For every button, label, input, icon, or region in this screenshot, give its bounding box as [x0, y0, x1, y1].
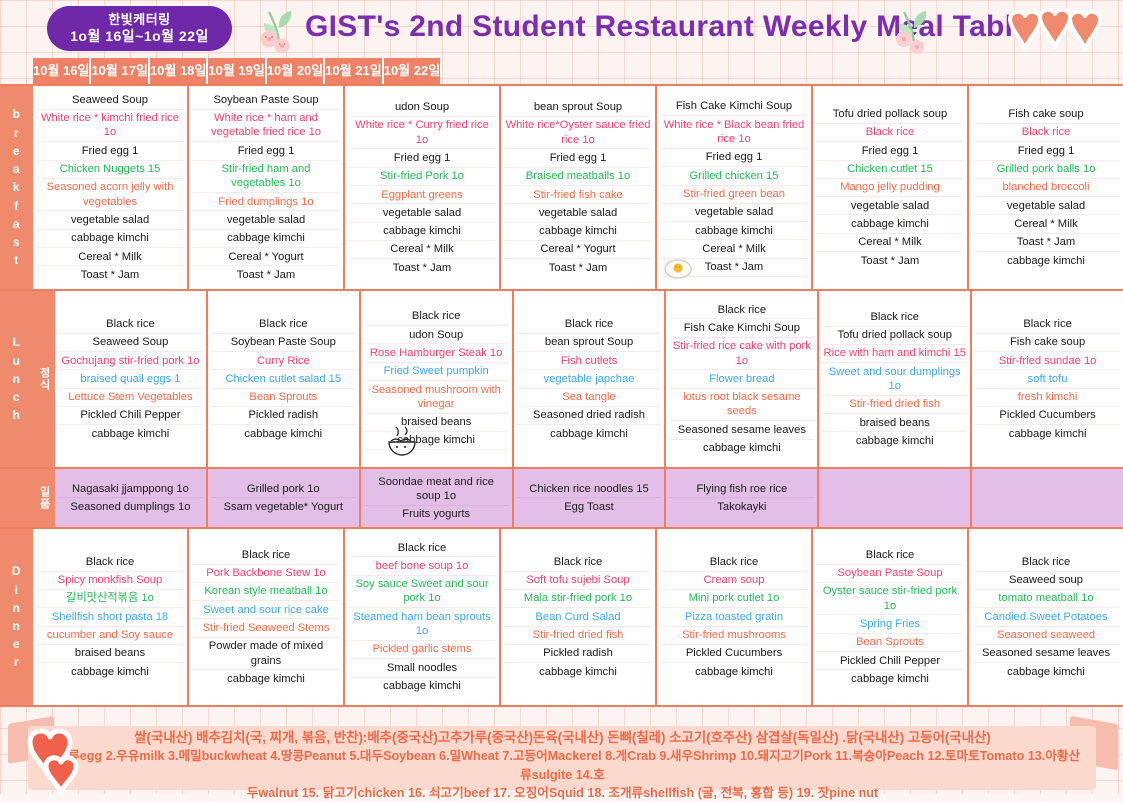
menu-item: Small noodles	[348, 659, 496, 677]
menu-item: cabbage kimchi	[36, 663, 184, 680]
date-header-4: 10월 20일	[267, 58, 325, 84]
allergen-line-1: 계란류egg 2.우유milk 3.메밀buckwheat 4.땅콩Peanut…	[40, 747, 1085, 784]
menu-item: Grilled pork 1o	[211, 480, 356, 498]
menu-item: Pickled Chili Pepper	[58, 407, 203, 425]
menu-item: Chicken cutlet salad 15	[211, 370, 356, 388]
menu-item: Mini pork cutlet 1o	[660, 590, 808, 608]
menu-item: Toast * Jam	[816, 252, 964, 269]
menu-item: Chicken Nuggets 15	[36, 161, 184, 179]
menu-item: White rice * ham and vegetable fried ric…	[192, 110, 340, 143]
menu-item: vegetable salad	[816, 197, 964, 215]
date-header-2: 10월 18일	[150, 58, 208, 84]
menu-item: tomato meatball 1o	[972, 590, 1120, 608]
lunch-cell-2[interactable]: Black riceudon SoupRose Hamburger Steak …	[361, 291, 514, 467]
label-letter: r	[14, 653, 19, 671]
dinner-cell-5[interactable]: Black riceSoybean Paste SoupOyster sauce…	[813, 529, 969, 705]
menu-item: Black rice	[517, 315, 662, 333]
menu-item: Black rice	[36, 553, 184, 571]
row-label-ilpum-korean: 일품	[33, 469, 55, 527]
menu-item: Stir-fried ham and vegetables 1o	[192, 161, 340, 194]
menu-item: Ssam vegetable* Yogurt	[211, 498, 356, 515]
breakfast-cell-1[interactable]: Soybean Paste SoupWhite rice * ham and v…	[189, 86, 345, 289]
menu-item: udon Soup	[348, 98, 496, 116]
menu-item: Fried egg 1	[348, 149, 496, 167]
menu-item: White rice * Black bean fried rice 1o	[660, 116, 808, 149]
menu-item: Black rice	[669, 301, 814, 319]
menu-item: Korean style meatball 1o	[192, 583, 340, 601]
menu-item: cabbage kimchi	[58, 425, 203, 442]
menu-item: Fish cake soup	[972, 106, 1120, 124]
menu-item: Fish Cake Kimchi Soup	[660, 98, 808, 116]
menu-item: Fish cutlets	[517, 352, 662, 370]
label-letter: t	[14, 251, 19, 269]
menu-item: Fish cake soup	[975, 334, 1120, 352]
page-header: 한빛케터링 1o월 16일~1o월 22일	[0, 0, 1123, 58]
menu-item: Nagasaki jjamppong 1o	[58, 480, 203, 498]
breakfast-cell-5[interactable]: Tofu dried pollack soupBlack riceFried e…	[813, 86, 969, 289]
menu-item: Sea tangle	[517, 389, 662, 407]
menu-item: Stir-fried Seaweed Stems	[192, 619, 340, 637]
label-letter: e	[13, 635, 20, 653]
date-header-6: 10월 22일	[384, 58, 440, 84]
menu-item: Cereal * Yogurt	[504, 241, 652, 259]
menu-item: Pickled Chili Pepper	[816, 652, 964, 670]
menu-item: Black rice	[660, 553, 808, 571]
ilpum-cell-1[interactable]: Grilled pork 1oSsam vegetable* Yogurt	[208, 469, 361, 527]
menu-item: Spicy monkfish Soup	[36, 572, 184, 590]
menu-item: Rice with ham and kimchi 15	[822, 345, 967, 363]
menu-item: cabbage kimchi	[36, 230, 184, 248]
catering-name: 한빛케터링	[108, 13, 170, 28]
menu-item: Pickled garlic stems	[348, 641, 496, 659]
menu-item: Seasoned acorn jelly with vegetables	[36, 179, 184, 212]
menu-item: cabbage kimchi	[211, 425, 356, 442]
menu-item: bean sprout Soup	[517, 334, 662, 352]
menu-item: Toast * Jam	[972, 234, 1120, 252]
breakfast-cell-4[interactable]: Fish Cake Kimchi SoupWhite rice * Black …	[657, 86, 813, 289]
menu-item: Toast * Jam	[348, 259, 496, 276]
menu-item: Lettuce Stem Vegetables	[58, 389, 203, 407]
menu-item: Chicken rice noodles 15	[517, 480, 662, 498]
menu-item: Toast * Jam	[36, 266, 184, 283]
menu-item: Cereal * Milk	[660, 240, 808, 258]
dinner-cell-6[interactable]: Black riceSeaweed souptomato meatball 1o…	[969, 529, 1123, 705]
label-letter: c	[13, 388, 20, 406]
menu-item: Fried egg 1	[660, 149, 808, 167]
menu-item: Soy sauce Sweet and sour pork 1o	[348, 576, 496, 609]
menu-item: Seaweed Soup	[36, 91, 184, 109]
menu-item: Flower bread	[669, 370, 814, 388]
label-letter: e	[13, 142, 20, 160]
menu-item: Grilled pork balls 1o	[972, 161, 1120, 179]
menu-item: Tofu dried pollack soup	[816, 106, 964, 124]
menu-item: fresh kimchi	[975, 389, 1120, 407]
menu-item: Black rice	[211, 315, 356, 333]
row-label-breakfast: breakfast	[0, 86, 33, 289]
dinner-row: Dinner Black riceSpicy monkfish Soup갈비맛산…	[0, 529, 1123, 707]
menu-item: Black rice	[975, 315, 1120, 333]
menu-item: Seasoned dumplings 1o	[58, 498, 203, 515]
label-letter: k	[13, 178, 20, 196]
ilpum-cell-0[interactable]: Nagasaki jjamppong 1oSeasoned dumplings …	[55, 469, 208, 527]
lunch-label-letters: Lunch	[13, 333, 21, 424]
menu-item: cabbage kimchi	[348, 678, 496, 695]
cherry-blossom-icon-2	[890, 6, 934, 59]
ilpum-cell-5[interactable]	[819, 469, 972, 527]
menu-item: braised beans	[364, 414, 509, 432]
menu-item: udon Soup	[364, 326, 509, 344]
menu-item: cabbage kimchi	[822, 432, 967, 449]
label-letter: L	[13, 333, 21, 351]
lunch-cell-5[interactable]: Black riceTofu dried pollack soupRice wi…	[819, 291, 972, 467]
menu-item: Soybean Paste Soup	[211, 334, 356, 352]
heart-w-logo-icon	[1000, 7, 1112, 60]
row-label-ilpum-spacer	[0, 469, 33, 527]
menu-item: cabbage kimchi	[660, 222, 808, 240]
menu-item: Seasoned dried radish	[517, 407, 662, 425]
row-label-lunch-korean: 정식	[33, 291, 55, 467]
lunch-cell-0[interactable]: Black riceSeaweed SoupGochujang stir-fri…	[55, 291, 208, 467]
menu-item: Stir-fried mushrooms	[660, 627, 808, 645]
footer-text-block: 쌀(국내산) 배추김치(국, 찌개, 볶음, 반찬):배추(중국산)고추가루(중…	[40, 728, 1085, 802]
menu-item: Black rice	[364, 308, 509, 326]
menu-item: vegetable salad	[972, 197, 1120, 215]
menu-item: lotus root black sesame seeds	[669, 389, 814, 422]
menu-item: Toast * Jam	[192, 266, 340, 283]
menu-item: Bean Curd Salad	[504, 608, 652, 626]
menu-item: Stir-fried rice cake with pork 1o	[669, 338, 814, 371]
lunch-cell-3[interactable]: Black ricebean sprout SoupFish cutletsve…	[514, 291, 667, 467]
menu-item: Fried egg 1	[816, 142, 964, 160]
label-letter: n	[13, 617, 21, 635]
breakfast-label-letters: breakfast	[13, 105, 21, 269]
breakfast-cell-6[interactable]: Fish cake soupBlack riceFried egg 1Grill…	[969, 86, 1123, 289]
menu-item: Soft tofu sujebi Soup	[504, 572, 652, 590]
menu-item: Soybean Paste Soup	[192, 91, 340, 109]
menu-item: Stir-fried dried fish	[822, 396, 967, 414]
menu-item: cabbage kimchi	[504, 663, 652, 680]
label-letter: h	[13, 406, 21, 424]
menu-item: Steamed ham bean sprouts 1o	[348, 608, 496, 641]
menu-item: Sweet and sour rice cake	[192, 601, 340, 619]
menu-item: Bean Sprouts	[816, 634, 964, 652]
menu-item: White rice * Curry fried rice 1o	[348, 117, 496, 150]
menu-item: Fish Cake Kimchi Soup	[669, 319, 814, 337]
allergen-line-2: 두walnut 15. 닭고기chicken 16. 쇠고기beef 17. 오…	[40, 784, 1085, 802]
menu-item: Stir-fried sundae 1o	[975, 352, 1120, 370]
menu-item: cabbage kimchi	[192, 230, 340, 248]
label-letter: n	[13, 599, 21, 617]
label-letter: s	[13, 233, 20, 251]
menu-item: blanched broccoli	[972, 179, 1120, 197]
menu-item: Black rice	[972, 124, 1120, 142]
menu-item: Curry Rice	[211, 352, 356, 370]
breakfast-cell-0[interactable]: Seaweed SoupWhite rice * kimchi fried ri…	[33, 86, 189, 289]
dinner-cell-0[interactable]: Black riceSpicy monkfish Soup갈비맛산적볶음 1oS…	[33, 529, 189, 705]
menu-item: Black rice	[972, 553, 1120, 571]
cherry-blossom-icon	[255, 6, 299, 59]
menu-item: Rose Hamburger Steak 1o	[364, 344, 509, 362]
menu-item: Black rice	[58, 315, 203, 333]
menu-item: cabbage kimchi	[192, 670, 340, 687]
menu-item: Cereal * Milk	[972, 215, 1120, 233]
double-heart-icon	[18, 722, 92, 801]
label-letter: r	[14, 124, 19, 142]
label-letter: n	[13, 370, 21, 388]
menu-item: Braised meatballs 1o	[504, 168, 652, 186]
label-letter: u	[13, 352, 21, 370]
menu-item: vegetable salad	[504, 204, 652, 222]
menu-item: braised beans	[36, 645, 184, 663]
menu-item: Pickled Cucumbers	[660, 645, 808, 663]
menu-item: Toast * Jam	[504, 259, 652, 276]
label-letter: D	[12, 562, 21, 580]
menu-item: Black rice	[348, 539, 496, 557]
menu-item: Black rice	[816, 546, 964, 564]
menu-item: Sweet and sour dumplings 1o	[822, 363, 967, 396]
menu-item: Seasoned seaweed	[972, 627, 1120, 645]
menu-item: Chicken cutlet 15	[816, 161, 964, 179]
breakfast-row: breakfast Seaweed SoupWhite rice * kimch…	[0, 84, 1123, 291]
menu-item: cabbage kimchi	[972, 252, 1120, 269]
row-label-lunch: Lunch	[0, 291, 33, 467]
menu-item: cabbage kimchi	[816, 670, 964, 687]
menu-item: Stir-fried dried fish	[504, 627, 652, 645]
label-letter: b	[13, 105, 21, 123]
menu-item: Seasoned mushroom with vinegar	[364, 381, 509, 414]
menu-item: Stir-fried Pork 1o	[348, 168, 496, 186]
menu-item: Black rice	[504, 553, 652, 571]
menu-item: cabbage kimchi	[517, 425, 662, 442]
menu-item: Fried egg 1	[972, 142, 1120, 160]
menu-item: Soybean Paste Soup	[816, 565, 964, 583]
menu-item: Pizza toasted gratin	[660, 608, 808, 626]
week-range-badge: 한빛케터링 1o월 16일~1o월 22일	[47, 6, 232, 51]
menu-item: Grilled chicken 15	[660, 167, 808, 185]
menu-item: Cream soup	[660, 572, 808, 590]
menu-item: Oyster sauce stir-fried pork 1o	[816, 583, 964, 616]
menu-item: bean sprout Soup	[504, 98, 652, 116]
menu-item: Shellfish short pasta 18	[36, 608, 184, 626]
menu-item: soft tofu	[975, 370, 1120, 388]
menu-item: Stir-fried fish cake	[504, 186, 652, 204]
menu-item: vegetable salad	[348, 204, 496, 222]
menu-item: cabbage kimchi	[348, 223, 496, 241]
ilpum-cell-3[interactable]: Chicken rice noodles 15Egg Toast	[514, 469, 667, 527]
menu-item: Pickled Cucumbers	[975, 407, 1120, 425]
breakfast-cell-3[interactable]: bean sprout SoupWhite rice*Oyster sauce …	[501, 86, 657, 289]
menu-item: Stir-fried green bean	[660, 186, 808, 204]
menu-item: cabbage kimchi	[975, 425, 1120, 442]
menu-item: vegetable salad	[36, 211, 184, 229]
menu-item: Cereal * Yogurt	[192, 248, 340, 266]
lunch-row: Lunch 정식 Black riceSeaweed SoupGochujang…	[0, 291, 1123, 469]
menu-item: Fruits yogurts	[364, 506, 509, 523]
menu-item: Cereal * Milk	[816, 234, 964, 252]
origin-info-line: 쌀(국내산) 배추김치(국, 찌개, 볶음, 반찬):배추(중국산)고추가루(중…	[40, 728, 1085, 747]
origin-allergen-footer: 쌀(국내산) 배추김치(국, 찌개, 볶음, 반찬):배추(중국산)고추가루(중…	[0, 712, 1123, 794]
ilpum-cell-2[interactable]: Soondae meat and rice soup 1oFruits yogu…	[361, 469, 514, 527]
spacer	[0, 58, 33, 84]
label-letter: a	[13, 160, 20, 178]
ilpum-row: 일품 Nagasaki jjamppong 1oSeasoned dumplin…	[0, 469, 1123, 529]
menu-item: Flying fish roe rice	[669, 480, 814, 498]
menu-item: Mala stir-fried pork 1o	[504, 590, 652, 608]
date-header-5: 10월 21일	[325, 58, 383, 84]
menu-item: Seaweed soup	[972, 572, 1120, 590]
menu-item: braised beans	[822, 414, 967, 432]
label-letter: a	[13, 215, 20, 233]
menu-item: Fried egg 1	[192, 142, 340, 160]
menu-item: White rice * kimchi fried rice 1o	[36, 110, 184, 143]
dinner-cell-4[interactable]: Black riceCream soupMini pork cutlet 1oP…	[657, 529, 813, 705]
menu-item: Fried egg 1	[504, 149, 652, 167]
menu-item: Toast * Jam	[660, 259, 808, 277]
menu-item: Pork Backbone Stew 1o	[192, 565, 340, 583]
menu-item: Pickled radish	[211, 407, 356, 425]
date-header-0: 10월 16일	[33, 58, 91, 84]
label-letter: i	[15, 581, 19, 599]
menu-item: Takokayki	[669, 498, 814, 515]
lunch-cell-6[interactable]: Black riceFish cake soupStir-fried sunda…	[972, 291, 1123, 467]
date-header-row: 10월 16일 10월 17일 10월 18일 10월 19일 10월 20일 …	[0, 58, 1123, 84]
menu-item: cabbage kimchi	[669, 440, 814, 457]
dinner-label-letters: Dinner	[12, 562, 21, 671]
menu-item: Egg Toast	[517, 498, 662, 515]
menu-item: Black rice	[192, 546, 340, 564]
date-header-3: 10월 19일	[208, 58, 266, 84]
menu-item: vegetable japchae	[517, 370, 662, 388]
menu-item: cucumber and Soy sauce	[36, 627, 184, 645]
menu-item: White rice*Oyster sauce fried rice 1o	[504, 117, 652, 150]
menu-item: Pickled radish	[504, 645, 652, 663]
dinner-cell-2[interactable]: Black ricebeef bone soup 1oSoy sauce Swe…	[345, 529, 501, 705]
menu-item: cabbage kimchi	[364, 432, 509, 450]
menu-item: Cereal * Milk	[348, 241, 496, 259]
date-header-1: 10월 17일	[91, 58, 149, 84]
menu-item: braised quail eggs 1	[58, 370, 203, 388]
menu-item: Powder made of mixed grains	[192, 638, 340, 671]
menu-item: Fried egg 1	[36, 142, 184, 160]
dinner-cell-1[interactable]: Black ricePork Backbone Stew 1oKorean st…	[189, 529, 345, 705]
menu-item: Mango jelly pudding	[816, 179, 964, 197]
label-letter: f	[14, 197, 19, 215]
menu-item: Soondae meat and rice soup 1o	[364, 473, 509, 506]
menu-item: cabbage kimchi	[816, 215, 964, 233]
menu-item: Tofu dried pollack soup	[822, 327, 967, 345]
menu-item: Fried dumplings 1o	[192, 193, 340, 211]
menu-item: Seasoned sesame leaves	[669, 421, 814, 439]
breakfast-cell-2[interactable]: udon SoupWhite rice * Curry fried rice 1…	[345, 86, 501, 289]
menu-item: Cereal * Milk	[36, 248, 184, 266]
row-label-dinner: Dinner	[0, 529, 33, 705]
menu-item: vegetable salad	[192, 211, 340, 229]
menu-item: Seaweed Soup	[58, 334, 203, 352]
menu-item: Bean Sprouts	[211, 389, 356, 407]
menu-item: Eggplant greens	[348, 186, 496, 204]
menu-item: cabbage kimchi	[972, 663, 1120, 680]
menu-item: Black rice	[822, 308, 967, 326]
lunch-cell-4[interactable]: Black riceFish Cake Kimchi SoupStir-frie…	[666, 291, 819, 467]
menu-item: 갈비맛산적볶음 1o	[36, 590, 184, 608]
meal-table: 10월 16일 10월 17일 10월 18일 10월 19일 10월 20일 …	[0, 58, 1123, 707]
menu-item: cabbage kimchi	[660, 663, 808, 680]
menu-item: Gochujang stir-fried pork 1o	[58, 352, 203, 370]
ilpum-cell-6[interactable]	[972, 469, 1123, 527]
menu-item: Spring Fries	[816, 615, 964, 633]
dinner-cell-3[interactable]: Black riceSoft tofu sujebi SoupMala stir…	[501, 529, 657, 705]
menu-item: Candied Sweet Potatoes	[972, 608, 1120, 626]
ilpum-cell-4[interactable]: Flying fish roe riceTakokayki	[666, 469, 819, 527]
lunch-cell-1[interactable]: Black riceSoybean Paste SoupCurry RiceCh…	[208, 291, 361, 467]
menu-item: Fried Sweet pumpkin	[364, 363, 509, 381]
menu-item: Seasoned sesame leaves	[972, 645, 1120, 663]
menu-item: vegetable salad	[660, 204, 808, 222]
menu-item: cabbage kimchi	[504, 223, 652, 241]
menu-item: beef bone soup 1o	[348, 557, 496, 575]
week-range-text: 1o월 16일~1o월 22일	[70, 28, 209, 44]
menu-item: Black rice	[816, 124, 964, 142]
